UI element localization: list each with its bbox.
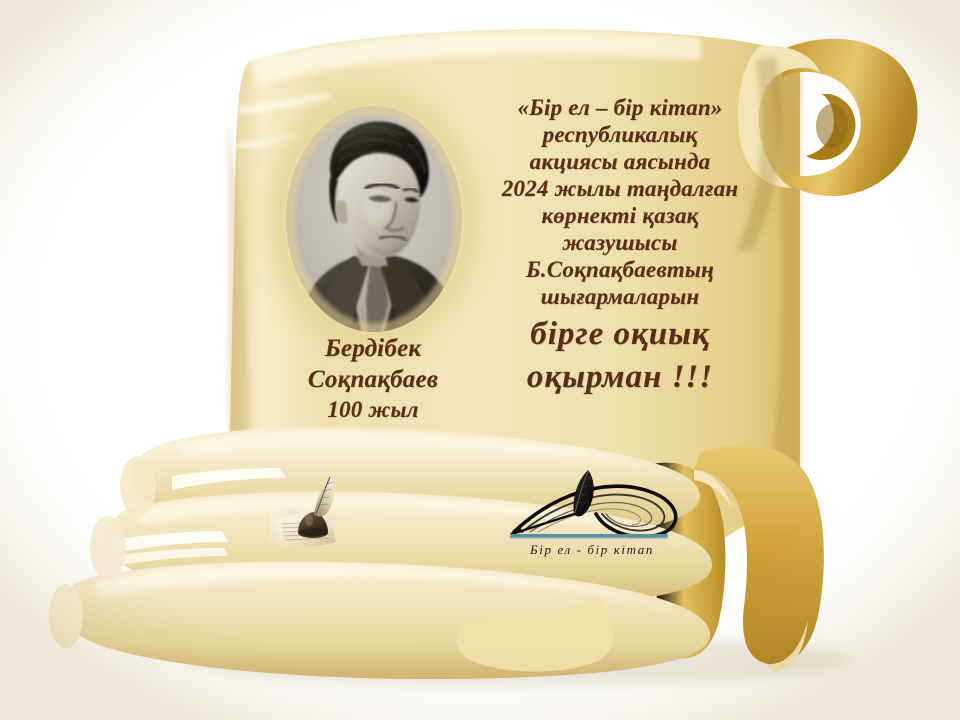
main-text-line: 2024 жылы таңдалған bbox=[455, 177, 785, 200]
author-name-block: Бердібек Соқпақбаев 100 жыл bbox=[258, 336, 488, 427]
campaign-logo: Бір ел - бір кітап bbox=[492, 462, 692, 562]
main-text-line: көрнекті қазақ bbox=[455, 204, 785, 227]
main-text-line: шығармаларын bbox=[455, 285, 785, 308]
portrait-image bbox=[284, 104, 464, 334]
main-text-line: «Бір ел – бір кітап» bbox=[455, 96, 785, 119]
logo-caption-svg: Бір ел - бір кітап bbox=[529, 542, 654, 557]
scroll-tube-2-cap bbox=[90, 516, 126, 580]
main-text-emphasis-line: бірге оқиық bbox=[455, 318, 785, 351]
poster-canvas: «Бір ел – бір кітап» республикалық акция… bbox=[0, 0, 960, 720]
main-text-block: «Бір ел – бір кітап» республикалық акция… bbox=[455, 96, 785, 402]
scroll-tube-3-cap bbox=[49, 584, 83, 648]
quill-inkwell-icon bbox=[258, 468, 358, 552]
author-portrait bbox=[284, 104, 464, 334]
main-text-emphasis-line: оқырман !!! bbox=[455, 361, 785, 394]
author-last-name: Соқпақбаев bbox=[258, 367, 488, 392]
feather-quill-book-icon: Бір ел - бір кітап bbox=[492, 462, 692, 562]
author-anniversary: 100 жыл bbox=[258, 398, 488, 421]
main-text-line: жазушысы bbox=[455, 231, 785, 254]
author-first-name: Бердібек bbox=[258, 336, 488, 361]
quill-inkwell-graphic bbox=[258, 468, 358, 552]
main-text-line: акциясы аясында bbox=[455, 150, 785, 173]
scroll-tube-1-cap bbox=[120, 456, 156, 516]
main-text-line: Б.Соқпақбаевтың bbox=[455, 258, 785, 281]
main-text-line: республикалық bbox=[455, 123, 785, 146]
scroll-curl-hole bbox=[816, 104, 848, 148]
